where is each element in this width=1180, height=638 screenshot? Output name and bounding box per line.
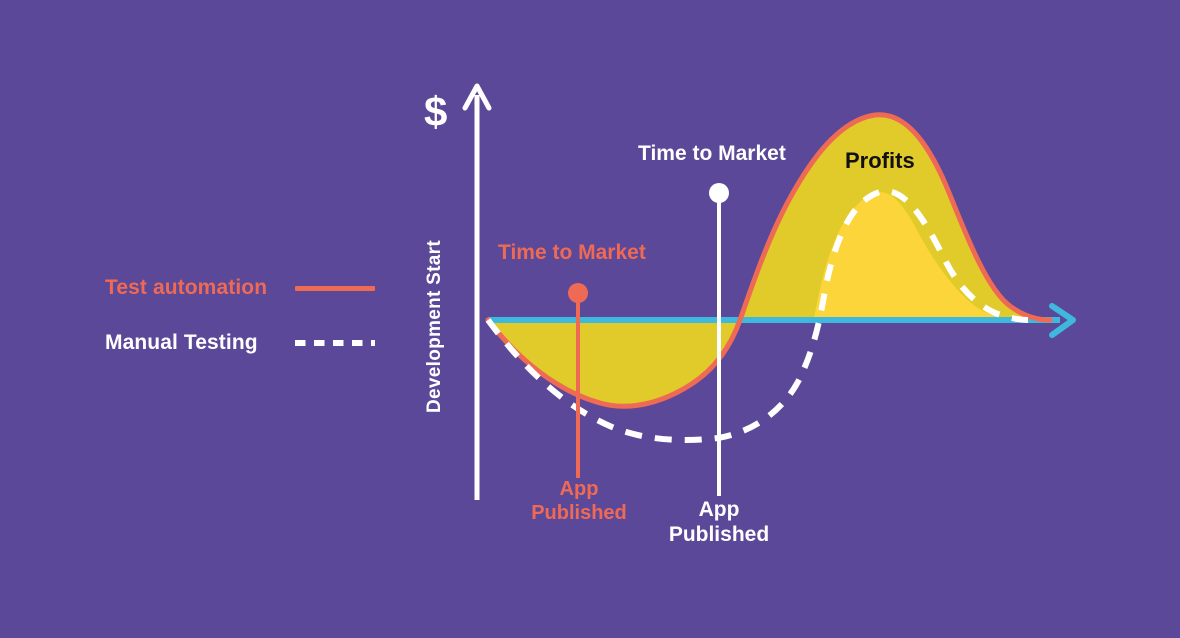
annotation-time-to-market-manual: Time to Market xyxy=(638,142,786,167)
annotation-app-published-automation: App Published xyxy=(525,478,633,525)
annotation-time-to-market-automation: Time to Market xyxy=(498,241,646,266)
automation-marker-dot xyxy=(568,283,588,303)
infographic-canvas: $ Development Start Test automation Manu… xyxy=(0,0,1180,638)
annotation-app-published-manual: App Published xyxy=(663,498,775,548)
legend-item-test-automation: Test automation xyxy=(105,268,375,308)
y-axis-currency-symbol: $ xyxy=(424,88,447,136)
manual-marker-dot xyxy=(709,183,729,203)
legend-item-manual-testing: Manual Testing xyxy=(105,323,375,363)
legend-label-manual-testing: Manual Testing xyxy=(105,331,258,355)
legend-swatch-dashed-line xyxy=(295,340,375,346)
legend-label-test-automation: Test automation xyxy=(105,276,267,300)
y-axis-label: Development Start xyxy=(424,240,446,413)
legend-swatch-solid-line xyxy=(295,286,375,291)
annotation-profits: Profits xyxy=(845,148,915,174)
legend: Test automation Manual Testing xyxy=(105,268,375,363)
